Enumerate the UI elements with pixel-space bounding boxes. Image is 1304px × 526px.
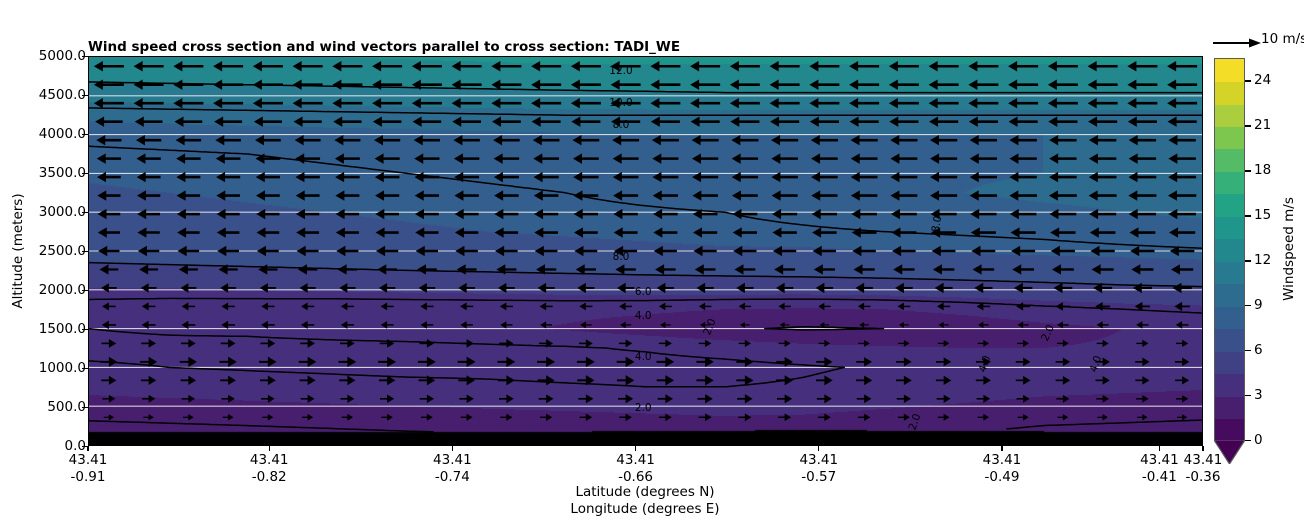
colorbar-min-extend-arrow-icon: [1214, 440, 1245, 464]
wind-vector-head: [904, 395, 911, 404]
wind-vector-head: [653, 209, 662, 219]
wind-vector-head: [215, 135, 224, 145]
wind-vector-head: [494, 190, 503, 200]
wind-vector-head: [1095, 302, 1102, 311]
wind-vector-head: [335, 190, 344, 200]
wind-vector-head: [174, 116, 183, 126]
wind-vector-head: [381, 303, 388, 311]
colorbar-title-text: Windspeed m/s: [1281, 197, 1297, 301]
wind-vector-head: [96, 135, 105, 145]
wind-vector-head: [1103, 395, 1109, 403]
x-tick-mark: [818, 446, 819, 451]
wind-vector-head: [695, 264, 704, 274]
wind-vector-head: [970, 190, 979, 200]
wind-vector-head: [626, 375, 635, 385]
contour-line-6: [89, 263, 1202, 287]
colorbar-segment: [1215, 171, 1244, 194]
wind-vector-head: [546, 357, 555, 367]
x-tick-label-lon: -0.36: [1186, 469, 1221, 485]
wind-vector-head: [1008, 61, 1017, 71]
wind-vector-head: [221, 321, 228, 329]
colorbar-tick-mark: [1245, 395, 1251, 396]
wind-vector-head: [693, 227, 702, 237]
wind-vector-head: [531, 80, 540, 90]
wind-vector-head: [341, 303, 348, 311]
wind-vector-head: [970, 209, 979, 219]
wind-vector-head: [1054, 283, 1063, 293]
wind-vector-head: [256, 190, 265, 200]
x-tick-label-lat: 43.41: [616, 452, 655, 468]
colorbar-tick-mark: [1245, 440, 1251, 441]
wind-vector-head: [188, 414, 193, 420]
wind-vector-head: [929, 61, 938, 71]
wind-vector-head: [586, 414, 592, 421]
wind-vector-head: [1103, 376, 1110, 385]
wind-vector-head: [1169, 227, 1178, 237]
contour-label: 6.0: [635, 286, 652, 298]
wind-vector-head: [864, 357, 872, 367]
wind-vector-head: [336, 209, 345, 219]
wind-vector-head: [347, 395, 354, 403]
colorbar-segment: [1215, 194, 1244, 217]
wind-vector-head: [731, 135, 740, 145]
wind-vector-head: [1048, 116, 1057, 126]
wind-vector-head: [778, 303, 784, 310]
wind-vector-head: [467, 357, 476, 367]
x-axis-label-lat: Latitude (degrees N): [575, 484, 714, 500]
wind-vector-head: [336, 246, 345, 256]
wind-vector-head: [770, 61, 779, 71]
wind-vector-head: [177, 209, 186, 219]
wind-vector-head: [1008, 98, 1017, 108]
contour-label: 12.0: [609, 65, 632, 77]
wind-vector-head: [253, 80, 262, 90]
wind-vector-head: [1088, 98, 1097, 108]
y-tick-label: 500.0: [47, 399, 86, 415]
wind-vector-head: [416, 246, 425, 256]
wind-vector-head: [173, 80, 182, 90]
wind-vector-head: [1014, 283, 1023, 293]
contour-line-10: [89, 108, 1202, 115]
wind-vector-head: [617, 283, 626, 293]
wind-vector-head: [930, 153, 939, 163]
wind-vector-head: [626, 394, 634, 403]
wind-vector-head: [258, 264, 267, 274]
wind-vector-head: [650, 98, 659, 108]
wind-vector-head: [1051, 246, 1060, 256]
wind-vector-head: [177, 190, 186, 200]
wind-vector-head: [929, 98, 938, 108]
wind-vector-head: [809, 98, 818, 108]
wind-vector-head: [98, 246, 107, 256]
wind-vector-head: [891, 209, 900, 219]
wind-vector-head: [376, 246, 385, 256]
wind-vector-head: [929, 80, 938, 90]
wind-vector-head: [691, 116, 700, 126]
wind-vector-head: [216, 190, 225, 200]
wind-vector-head: [1182, 340, 1188, 347]
wind-vector-head: [256, 209, 265, 219]
wind-vector-head: [665, 357, 674, 367]
wind-vector-head: [293, 61, 302, 71]
wind-vector-head: [373, 116, 382, 126]
wind-vector-head: [494, 209, 503, 219]
wind-vector-head: [970, 135, 979, 145]
wind-vector-head: [983, 340, 989, 347]
wind-vector-head: [308, 376, 316, 386]
wind-vector-head: [730, 80, 739, 90]
wind-vector-head: [109, 357, 117, 367]
wind-vector-head: [136, 135, 145, 145]
wind-vector-head: [1142, 395, 1148, 403]
wind-vector-head: [654, 246, 663, 256]
wind-vector-head: [573, 190, 582, 200]
wind-vector-head: [460, 302, 467, 310]
wind-vector-head: [1049, 190, 1058, 200]
x-tick-label-lat: 43.41: [799, 452, 838, 468]
wind-vector-head: [574, 227, 583, 237]
wind-vector-head: [650, 80, 659, 90]
wind-vector-head: [1168, 135, 1177, 145]
wind-vector-head: [733, 227, 742, 237]
x-tick-label-lon: -0.57: [801, 469, 836, 485]
colorbar-tick-mark: [1245, 125, 1251, 126]
wind-vector-head: [850, 116, 859, 126]
wind-vector-head: [296, 190, 305, 200]
wind-vector-head: [134, 98, 143, 108]
wind-vector-head: [809, 80, 818, 90]
wind-vector-head: [665, 339, 672, 347]
wind-vector-head: [97, 153, 106, 163]
wind-vector-head: [1089, 209, 1098, 219]
wind-vector-head: [308, 414, 314, 421]
wind-vector-head: [705, 340, 711, 348]
wind-vector-head: [613, 190, 622, 200]
wind-vector-head: [257, 227, 266, 237]
wind-vector-head: [134, 80, 143, 90]
wind-vector-head: [904, 376, 912, 386]
wind-vector-head: [1017, 322, 1023, 329]
wind-vector-head: [1129, 153, 1138, 163]
wind-vector-head: [253, 98, 262, 108]
wind-vector-head: [655, 264, 664, 274]
colorbar-tick-mark: [1245, 350, 1251, 351]
colorbar-segment: [1215, 81, 1244, 104]
wind-vector-head: [452, 98, 461, 108]
wind-vector-head: [149, 395, 156, 403]
wind-vector-head: [890, 190, 899, 200]
x-tick-mark: [269, 446, 270, 451]
wind-vector-head: [899, 322, 904, 328]
wind-vector-head: [944, 357, 952, 366]
colorbar-tick-mark: [1245, 170, 1251, 171]
wind-vector-head: [1182, 414, 1187, 420]
wind-vector-head: [455, 246, 464, 256]
wind-vector-head: [139, 264, 148, 274]
colorbar-segment: [1215, 374, 1244, 397]
wind-vector-head: [332, 61, 341, 71]
x-tick-label-lat: 43.41: [1140, 452, 1179, 468]
wind-vector-head: [142, 302, 149, 310]
wind-vector-head: [812, 209, 821, 219]
wind-vector-head: [296, 209, 305, 219]
wind-vector-head: [732, 209, 741, 219]
wind-vector-head: [864, 394, 871, 403]
wind-vector-head: [1063, 414, 1068, 420]
wind-vector-head: [1023, 414, 1028, 421]
wind-vector-head: [586, 357, 595, 367]
y-tick-label: 3000.0: [39, 204, 86, 220]
wind-vector-head: [253, 61, 262, 71]
wind-vector-head: [1089, 135, 1098, 145]
x-axis-label-lon: Longitude (degrees E): [570, 501, 719, 517]
wind-vector-head: [375, 153, 384, 163]
wind-vector-head: [495, 246, 504, 256]
wind-vector-head: [745, 357, 754, 367]
wind-vector-head: [1142, 414, 1147, 420]
wind-vector-head: [1130, 246, 1139, 256]
wind-vector-head: [228, 376, 236, 385]
colorbar-tick-label: 18: [1254, 162, 1271, 178]
wind-vector-head: [1103, 340, 1109, 347]
wind-vector-head: [301, 321, 308, 329]
wind-vector-head: [1023, 340, 1029, 347]
wind-vector-head: [387, 395, 394, 404]
wind-vector-head: [690, 98, 699, 108]
wind-vector-head: [213, 61, 222, 71]
wind-vector-head: [659, 303, 665, 311]
wind-vector-head: [300, 283, 308, 293]
wind-vector-head: [1088, 80, 1097, 90]
wind-vector-head: [177, 227, 186, 237]
figure-root: Wind speed cross section and wind vector…: [0, 0, 1304, 526]
y-tick-label: 2000.0: [39, 282, 86, 298]
wind-vector-head: [109, 414, 114, 420]
colorbar-segment: [1215, 329, 1244, 352]
wind-vector-head: [730, 116, 739, 126]
wind-vector-head: [811, 153, 820, 163]
colorbar-tick-label: 9: [1254, 297, 1263, 313]
wind-vector-head: [652, 153, 661, 163]
colorbar-tick-label: 12: [1254, 252, 1271, 268]
wind-vector-head: [134, 61, 143, 71]
wind-vector-head: [427, 414, 433, 421]
wind-vector-head: [705, 394, 713, 403]
wind-vector-head: [1009, 190, 1018, 200]
wind-vector-head: [533, 135, 542, 145]
wind-vector-head: [268, 414, 274, 421]
colorbar-tick-mark: [1245, 260, 1251, 261]
y-axis-label-text: Altitude (meters): [10, 193, 26, 308]
wind-vector-head: [665, 394, 673, 403]
wind-vector-head: [381, 321, 387, 329]
contour-label: 10.0: [609, 97, 632, 109]
wind-vector-head: [268, 357, 277, 367]
wind-vector-head: [824, 413, 830, 421]
wind-vector-head: [308, 395, 315, 403]
wind-vector-head: [1168, 116, 1177, 126]
wind-vector-head: [506, 375, 514, 385]
wind-vector-head: [657, 283, 666, 293]
wind-vector-head: [1063, 395, 1069, 403]
wind-vector-head: [579, 302, 586, 310]
wind-vector-head: [824, 340, 830, 347]
colorbar-segment: [1215, 126, 1244, 149]
wind-vector-head: [974, 283, 983, 293]
wind-vector-head: [332, 98, 341, 108]
cross-section-plot: 12.010.08.08.06.04.02.04.02.08.02.04.04.…: [88, 56, 1203, 446]
wind-vector-head: [772, 209, 781, 219]
wind-vector-head: [538, 283, 546, 293]
wind-vector-head: [457, 264, 466, 274]
wind-vector-head: [532, 116, 541, 126]
wind-vector-head: [858, 303, 864, 311]
x-tick-label-lat: 43.41: [433, 452, 472, 468]
wind-vector-head: [415, 227, 424, 237]
wind-vector-head: [619, 303, 626, 311]
wind-vector-head: [102, 321, 109, 329]
wind-vector-head: [1090, 227, 1099, 237]
wind-vector-head: [176, 135, 185, 145]
colorbar-segment: [1215, 59, 1244, 82]
y-tick-label: 4000.0: [39, 126, 86, 142]
wind-vector-head: [217, 246, 226, 256]
wind-vector-head: [339, 283, 347, 293]
wind-vector-head: [889, 116, 898, 126]
wind-vector-head: [347, 375, 355, 385]
wind-vector-head: [785, 413, 791, 421]
wind-vector-head: [427, 339, 434, 348]
wind-vector-head: [387, 339, 394, 348]
y-tick-label: 4500.0: [39, 87, 86, 103]
wind-vector-head: [500, 302, 507, 310]
wind-vector-head: [94, 80, 103, 90]
wind-vector-head: [620, 322, 626, 329]
wind-vector-head: [705, 375, 714, 385]
wind-vector-head: [137, 227, 146, 237]
wind-vector-head: [1092, 264, 1101, 274]
wind-vector-head: [651, 116, 660, 126]
wind-vector-head: [772, 190, 781, 200]
y-tick-label: 2500.0: [39, 243, 86, 259]
wind-vector-head: [653, 190, 662, 200]
wind-vector-head: [970, 153, 979, 163]
wind-vector-head: [173, 61, 182, 71]
wind-vector-head: [100, 264, 109, 274]
wind-vector-head: [864, 375, 872, 385]
wind-vector-head: [228, 395, 235, 403]
wind-vector-head: [97, 190, 106, 200]
wind-vector-head: [978, 322, 983, 328]
wind-vector-head: [427, 357, 436, 367]
wind-vector-head: [574, 246, 583, 256]
wind-vector-head: [705, 413, 712, 421]
wind-vector-head: [176, 153, 185, 163]
wind-vector-head: [864, 340, 870, 347]
y-tick-label: 1500.0: [39, 321, 86, 337]
wind-vector-head: [613, 209, 622, 219]
wind-vector-head: [188, 339, 195, 348]
wind-vector-head: [308, 339, 315, 348]
wind-vector-head: [626, 357, 635, 367]
wind-vector-head: [730, 98, 739, 108]
wind-vector-head: [890, 153, 899, 163]
wind-vector-head: [811, 135, 820, 145]
wind-vector-head: [816, 283, 825, 293]
wind-vector-head: [818, 303, 824, 310]
wind-vector-head: [138, 246, 147, 256]
colorbar-tick-label: 24: [1254, 72, 1271, 88]
wind-vector-head: [690, 80, 699, 90]
wind-vector-head: [890, 135, 899, 145]
wind-vector-head: [332, 80, 341, 90]
wind-vector-head: [745, 394, 753, 403]
wind-vector-head: [149, 339, 156, 348]
wind-vector-head: [427, 395, 434, 404]
wind-vector-head: [851, 135, 860, 145]
contour-label: 2.0: [635, 402, 652, 414]
wind-vector-head: [427, 375, 435, 385]
wind-vector-head: [1142, 340, 1148, 347]
wind-vector-head: [732, 153, 741, 163]
wind-vector-head: [652, 135, 661, 145]
wind-vector-head: [1063, 357, 1070, 366]
wind-vector-head: [419, 283, 427, 293]
wind-vector-head: [1174, 302, 1182, 311]
wind-vector-head: [824, 394, 832, 403]
wind-vector-head: [1010, 209, 1019, 219]
wind-vector-head: [454, 153, 463, 163]
wind-vector-head: [1049, 209, 1058, 219]
wind-vector-head: [1142, 358, 1149, 367]
wind-vector-head: [420, 302, 427, 310]
wind-vector-head: [1016, 302, 1023, 310]
colorbar-segment: [1215, 239, 1244, 262]
wind-vector-head: [540, 302, 547, 310]
wind-vector-head: [893, 264, 902, 274]
x-tick-mark: [635, 446, 636, 451]
wind-vector-head: [692, 190, 701, 200]
wind-vector-head: [372, 80, 381, 90]
wind-vector-head: [824, 357, 832, 367]
wind-vector-head: [1128, 190, 1137, 200]
wind-vector-head: [540, 321, 546, 328]
wind-vector-head: [257, 246, 266, 256]
wind-vector-head: [770, 98, 779, 108]
wind-vector-head: [1142, 376, 1149, 385]
wind-vector-head: [930, 190, 939, 200]
wind-vector-head: [1023, 376, 1030, 385]
wind-vector-head: [221, 302, 228, 310]
wind-vector-head: [574, 209, 583, 219]
wind-vector-head: [261, 302, 268, 310]
wind-vector-head: [665, 375, 674, 385]
wind-vector-head: [577, 283, 586, 293]
wind-vector-head: [849, 61, 858, 71]
wind-vector-head: [780, 322, 785, 328]
colorbar-segment: [1215, 261, 1244, 284]
wind-vector-head: [785, 375, 793, 385]
wind-vector-head: [1182, 376, 1189, 384]
wind-vector-head: [387, 357, 396, 367]
contour-line-2: [89, 327, 1202, 432]
x-tick-label-lat: 43.41: [250, 452, 289, 468]
wind-vector-head: [142, 321, 149, 329]
wind-vector-head: [773, 246, 782, 256]
wind-vector-head: [611, 80, 620, 90]
wind-vector-head: [733, 246, 742, 256]
wind-vector-head: [1136, 321, 1142, 328]
